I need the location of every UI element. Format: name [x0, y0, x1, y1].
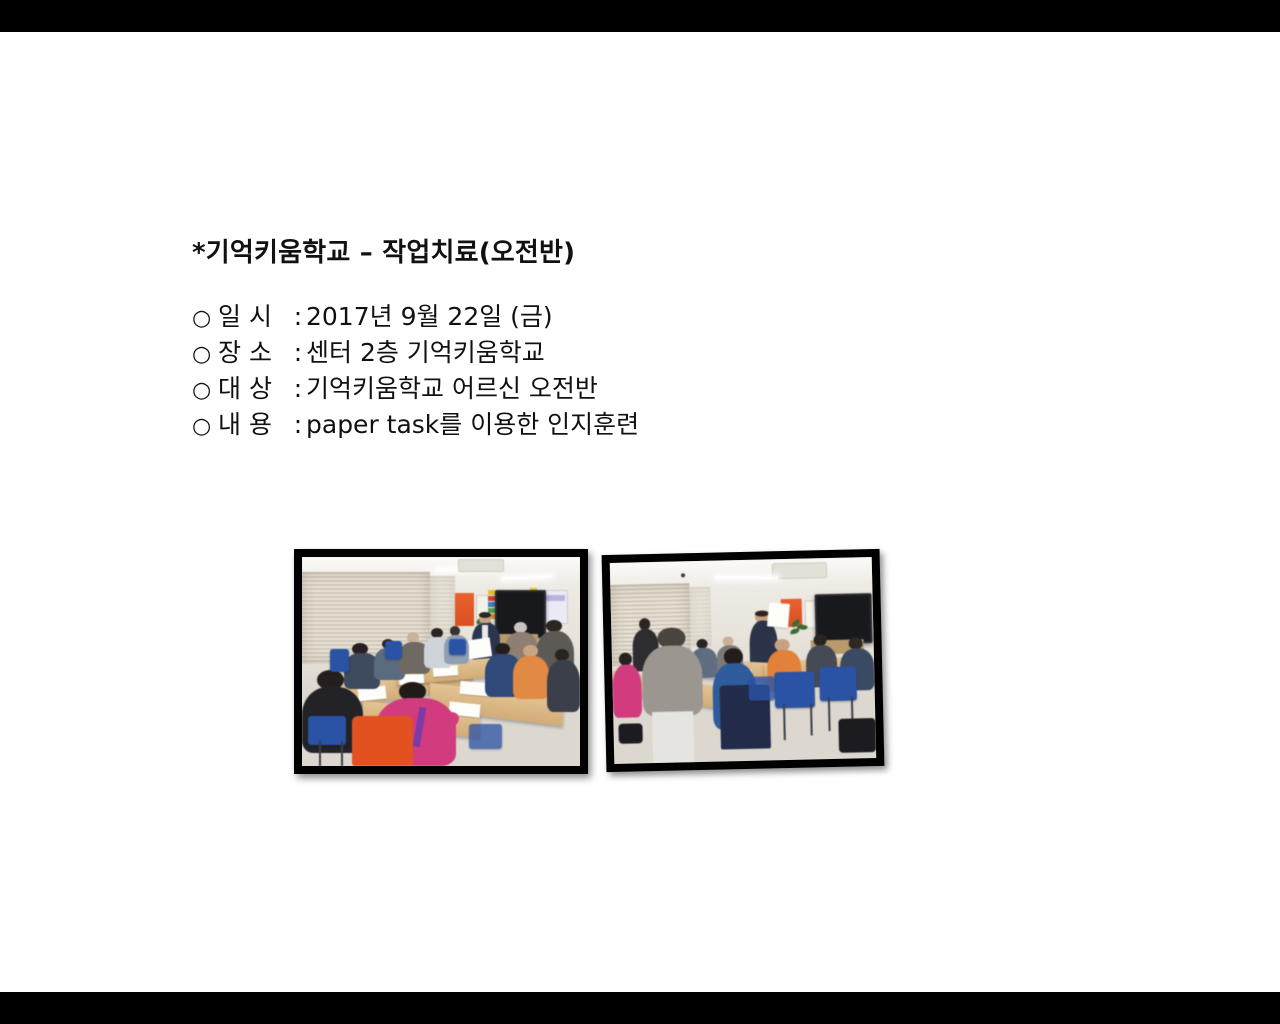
- chair: [469, 724, 502, 749]
- ac-vent: [772, 562, 827, 579]
- bullet-colon: :: [290, 300, 306, 334]
- bullet-colon: :: [290, 336, 306, 370]
- chair-leg: [828, 697, 831, 731]
- chair-leg: [809, 703, 812, 735]
- chair-leg: [783, 704, 786, 740]
- photo-scene: [302, 557, 580, 766]
- ceiling-sensor: [681, 573, 685, 577]
- handout-paper: [767, 603, 790, 629]
- bullet-label: 대 상: [218, 372, 290, 406]
- circle-bullet-icon: ○: [192, 338, 218, 372]
- orange-chair-cover: [352, 716, 413, 766]
- chair: [385, 641, 402, 660]
- slide-title: *기억키움학교 – 작업치료(오전반): [192, 232, 575, 269]
- classroom-photo-right: [602, 549, 885, 772]
- list-item: ○ 장 소 : 센터 2층 기억키움학교: [192, 336, 639, 372]
- classroom-photo-left: [294, 549, 588, 774]
- list-item: ○ 일 시 : 2017년 9월 22일 (금): [192, 300, 639, 336]
- bullet-label: 장 소: [218, 336, 290, 370]
- bullet-colon: :: [290, 408, 306, 442]
- bullet-value: 기억키움학교 어르신 오전반: [306, 372, 598, 406]
- list-item: ○ 내 용 : paper task를 이용한 인지훈련: [192, 408, 639, 444]
- list-item: ○ 대 상 : 기억키움학교 어르신 오전반: [192, 372, 639, 408]
- slide-stage: *기억키움학교 – 작업치료(오전반) ○ 일 시 : 2017년 9월 22일…: [0, 0, 1280, 1024]
- participant-foreground: [640, 627, 706, 763]
- letterbox-top: [0, 0, 1280, 32]
- bullet-value: paper task를 이용한 인지훈련: [306, 408, 639, 442]
- circle-bullet-icon: ○: [192, 302, 218, 336]
- circle-bullet-icon: ○: [192, 374, 218, 408]
- bullet-list: ○ 일 시 : 2017년 9월 22일 (금) ○ 장 소 : 센터 2층 기…: [192, 300, 639, 444]
- bullet-colon: :: [290, 372, 306, 406]
- photo-scene: [610, 557, 876, 764]
- chair-leg: [341, 741, 343, 766]
- participant: [612, 653, 642, 718]
- ac-vent: [458, 559, 504, 571]
- circle-bullet-icon: ○: [192, 410, 218, 444]
- bullet-value: 센터 2층 기억키움학교: [306, 336, 545, 370]
- chair-leg: [319, 741, 321, 766]
- presentation-slide: *기억키움학교 – 작업치료(오전반) ○ 일 시 : 2017년 9월 22일…: [0, 32, 1280, 992]
- participant: [547, 649, 580, 712]
- chair: [749, 676, 776, 701]
- bullet-value: 2017년 9월 22일 (금): [306, 300, 553, 334]
- chair: [449, 639, 466, 656]
- chair: [330, 649, 349, 672]
- backpack: [839, 718, 876, 753]
- letterbox-bottom: [0, 992, 1280, 1024]
- participant: [513, 645, 549, 699]
- bullet-label: 일 시: [218, 300, 290, 334]
- bag: [619, 723, 643, 744]
- bullet-label: 내 용: [218, 408, 290, 442]
